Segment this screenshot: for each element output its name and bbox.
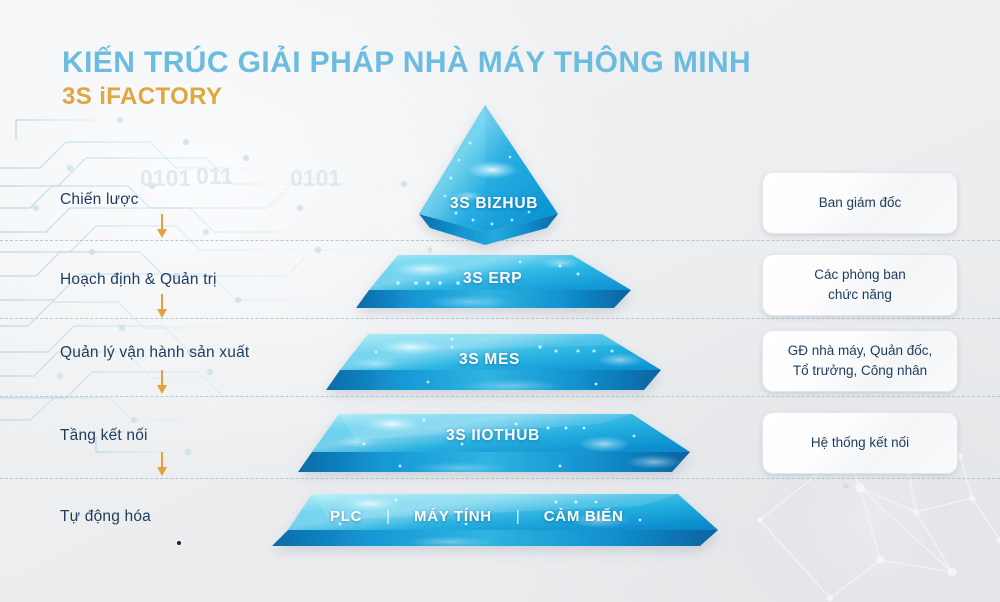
decorative-dot: [177, 541, 181, 545]
right-box-ban-giam-doc: Ban giám đốc: [762, 172, 958, 234]
pyramid-layer-bizhub: [419, 105, 558, 245]
pyramid-layer-iiothub: [298, 414, 690, 474]
right-box-cac-phong-ban: Các phòng banchức năng: [762, 254, 958, 316]
title-block: KIẾN TRÚC GIẢI PHÁP NHÀ MÁY THÔNG MINH 3…: [62, 46, 751, 111]
left-label-hoach-dinh: Hoạch định & Quản trị: [60, 271, 217, 289]
pyramid-layer-base: [272, 494, 718, 548]
arrow-down-1: [156, 214, 168, 240]
left-label-quan-ly-van-hanh: Quản lý vận hành sản xuất: [60, 344, 249, 362]
infographic-canvas: 0101 011 0101 0101: [0, 0, 1000, 602]
arrow-down-3: [156, 370, 168, 396]
arrow-down-2: [156, 294, 168, 320]
left-label-tang-ket-noi: Tầng kết nối: [60, 427, 148, 445]
left-label-chien-luoc: Chiến lược: [60, 191, 139, 209]
pyramid-layer-mes: [326, 334, 661, 393]
right-box-he-thong-ket-noi: Hệ thống kết nối: [762, 412, 958, 474]
right-box-gd-nha-may: GĐ nhà máy, Quản đốc,Tổ trưởng, Công nhâ…: [762, 330, 958, 392]
left-label-tu-dong-hoa: Tự động hóa: [60, 508, 151, 526]
pyramid-layer-erp: [356, 255, 631, 309]
page-subtitle: 3S iFACTORY: [62, 83, 751, 112]
arrow-down-4: [156, 452, 168, 478]
page-title: KIẾN TRÚC GIẢI PHÁP NHÀ MÁY THÔNG MINH: [62, 46, 751, 80]
